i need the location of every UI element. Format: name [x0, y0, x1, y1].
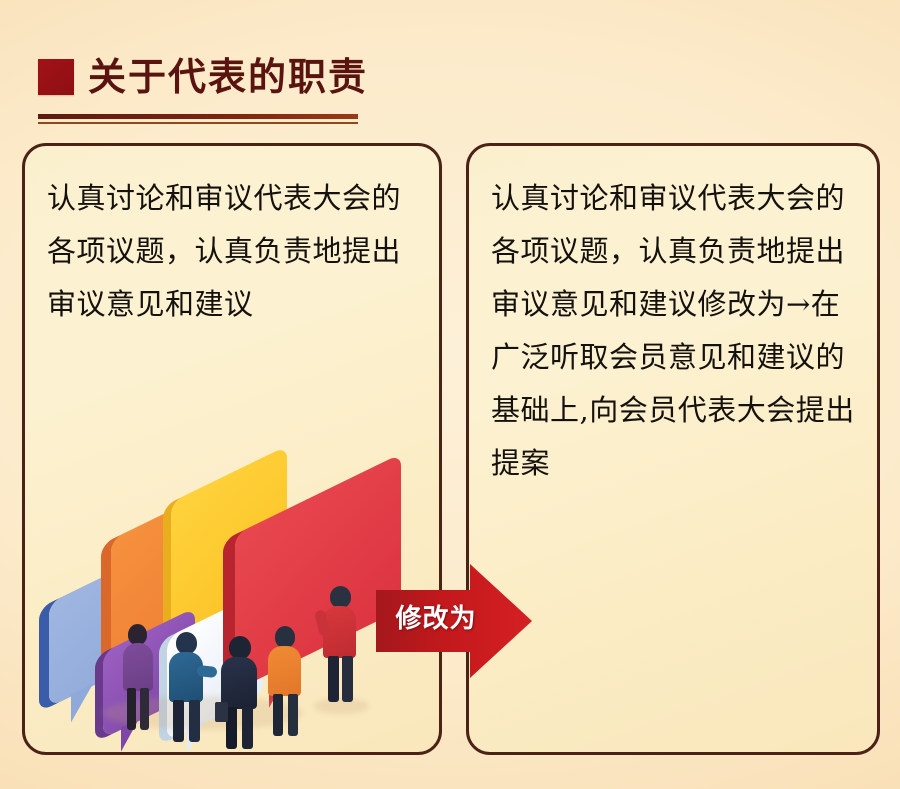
- divider-thin-rule: [38, 122, 358, 124]
- person-torso: [123, 643, 153, 691]
- person-legs: [173, 700, 184, 742]
- person-torso: [268, 646, 301, 696]
- title-row: 关于代表的职责: [38, 52, 458, 102]
- person-briefcase: [215, 702, 228, 722]
- original-duty-text: 认真讨论和审议代表大会的各项议题，认真负责地提出审议意见和建议: [47, 172, 423, 331]
- person-legs: [127, 688, 136, 730]
- page-title: 关于代表的职责: [88, 58, 368, 96]
- change-to-arrow: 修改为: [370, 562, 536, 680]
- person-head: [330, 586, 351, 608]
- title-underline-divider: [38, 114, 358, 124]
- crowd-person-blue-suit: [167, 632, 207, 742]
- person-head: [176, 632, 197, 654]
- person-legs: [273, 694, 283, 736]
- lone-person-red-shirt: [319, 586, 361, 704]
- person-legs: [189, 700, 200, 742]
- speech-bubble-blue-tail: [71, 684, 93, 723]
- person-legs: [342, 656, 353, 702]
- person-head: [128, 624, 147, 645]
- crowd-person-orange: [267, 626, 305, 736]
- person-head: [275, 626, 295, 648]
- person-legs: [328, 656, 339, 702]
- person-legs: [242, 707, 253, 749]
- person-torso: [169, 652, 203, 702]
- right-arrow-icon: [370, 562, 536, 680]
- poster-canvas: 关于代表的职责 认真讨论和审议代表大会的各项议题，认真负责地提出审议意见和建议: [0, 0, 900, 789]
- person-head: [229, 636, 251, 659]
- person-arm: [196, 665, 217, 678]
- square-bullet-icon: [38, 59, 74, 95]
- crowd-person-purple: [121, 624, 157, 732]
- crowd-person-navy-suit: [219, 636, 261, 748]
- person-legs: [140, 688, 149, 730]
- person-legs: [288, 694, 298, 736]
- page-header: 关于代表的职责: [38, 52, 458, 132]
- revised-duty-text: 认真讨论和审议代表大会的各项议题，认真负责地提出审议意见和建议修改为→在广泛听取…: [491, 172, 861, 490]
